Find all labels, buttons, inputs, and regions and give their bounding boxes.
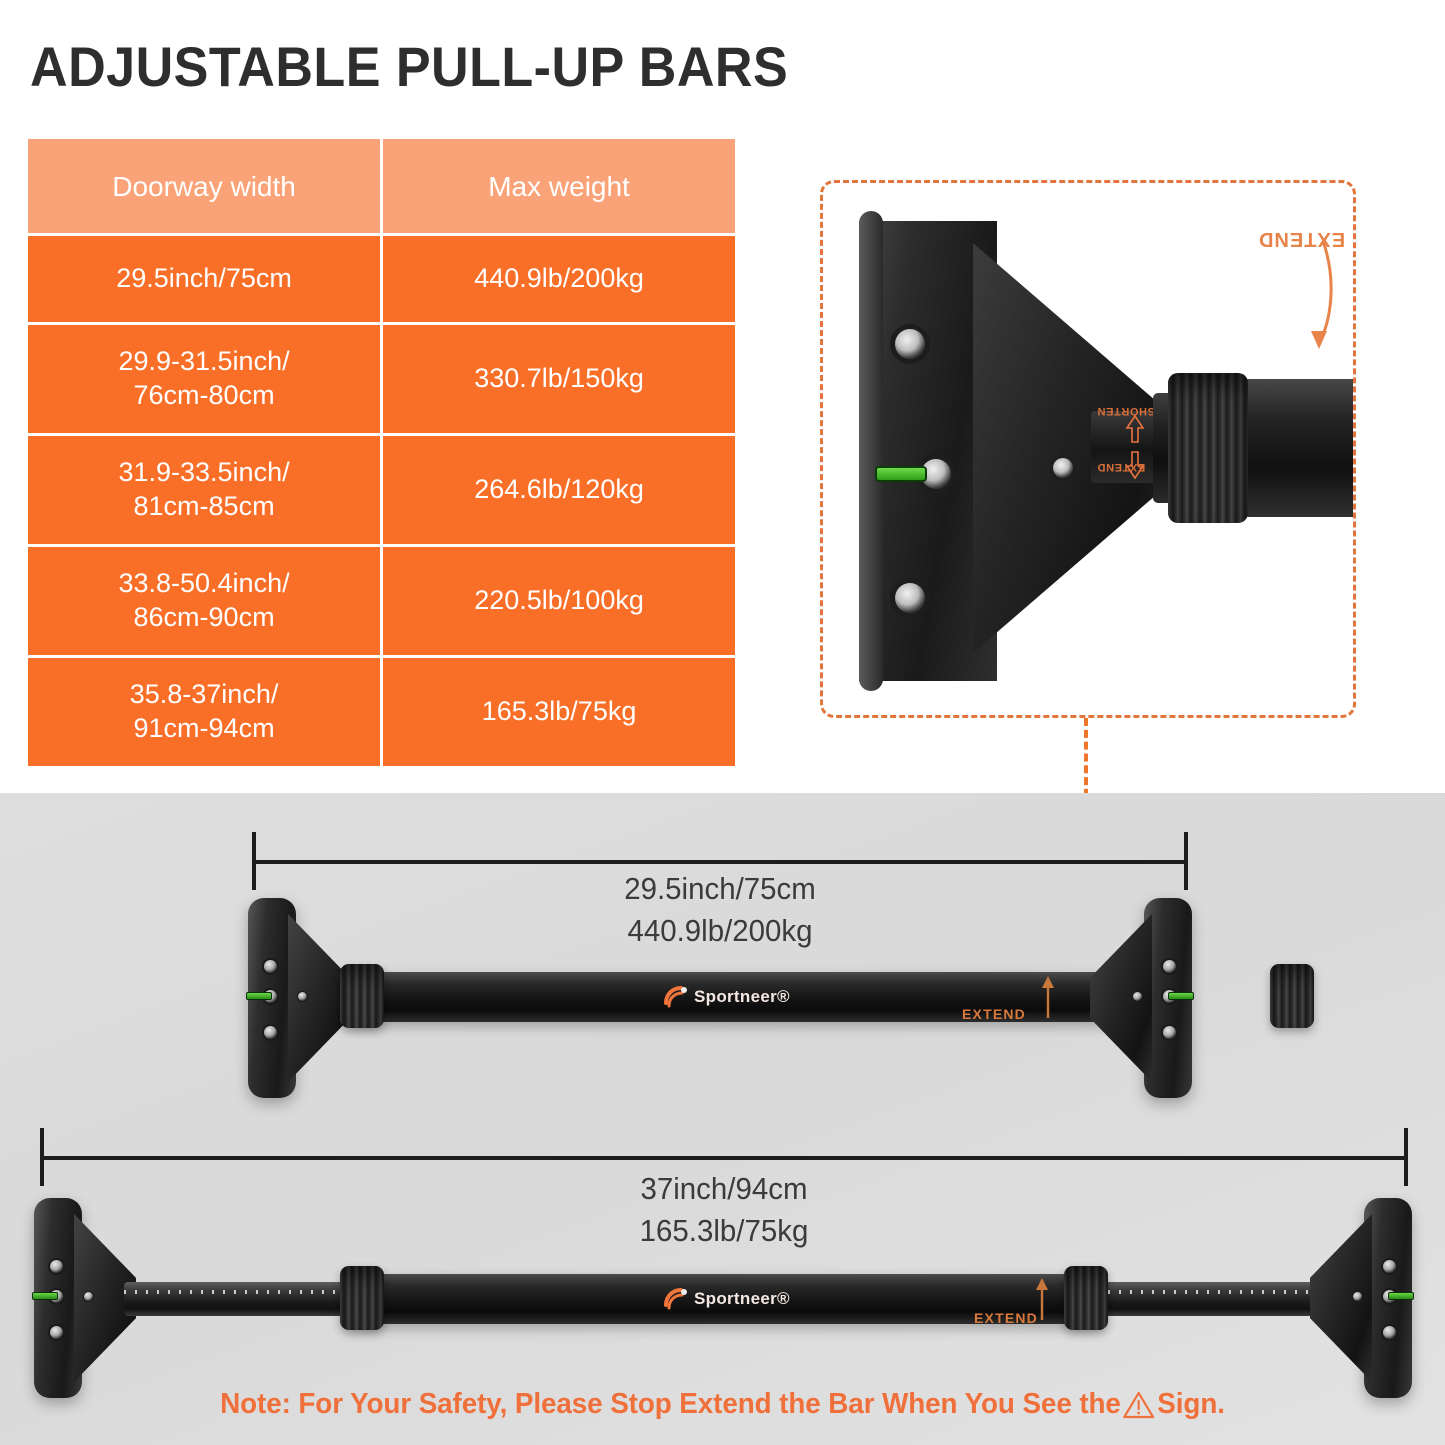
locking-collar-right[interactable] — [1064, 1266, 1108, 1330]
bubble-level-icon — [32, 1292, 58, 1300]
safety-note: Note: For Your Safety, Please Stop Exten… — [29, 1388, 1416, 1421]
brand-logo: Sportneer® — [660, 982, 790, 1012]
cell-max-weight: 330.7lb/150kg — [383, 325, 735, 433]
locking-collar-left[interactable] — [340, 1266, 384, 1330]
screw-hole-icon — [895, 583, 925, 613]
bubble-level-icon — [1168, 992, 1194, 1000]
cell-max-weight: 165.3lb/75kg — [383, 658, 735, 766]
inner-tube-left — [124, 1282, 360, 1316]
bubble-level-icon — [246, 992, 272, 1000]
detail-sleeve — [1241, 379, 1356, 517]
page-title: ADJUSTABLE PULL-UP BARS — [30, 34, 788, 99]
brand-logo: Sportneer® — [660, 1284, 790, 1314]
up-arrow-icon — [1040, 974, 1056, 1020]
screw-hole-icon — [1383, 1260, 1396, 1273]
column-header-max-weight: Max weight — [383, 139, 735, 233]
mount-left — [34, 1198, 130, 1398]
detail-locking-collar[interactable] — [1168, 373, 1248, 523]
table-row: 33.8-50.4inch/ 86cm-90cm 220.5lb/100kg — [28, 547, 735, 655]
bubble-level-icon — [875, 466, 927, 482]
extend-tag-label: EXTEND — [974, 1310, 1038, 1326]
bubble-level-icon — [1388, 1292, 1414, 1300]
mount-right — [1096, 898, 1192, 1098]
cell-max-weight: 440.9lb/200kg — [383, 236, 735, 322]
sportneer-wave-icon — [660, 982, 690, 1012]
screw-hole-icon — [1383, 1326, 1396, 1339]
screw-hole-icon — [298, 992, 307, 1001]
cell-doorway-width: 33.8-50.4inch/ 86cm-90cm — [28, 547, 380, 655]
screw-hole-icon — [1053, 458, 1073, 478]
screw-hole-icon — [264, 1026, 277, 1039]
curved-arrow-icon — [1227, 231, 1347, 361]
extend-tag-label: EXTEND — [962, 1006, 1026, 1022]
brand-name: Sportneer® — [694, 1289, 790, 1309]
detail-shorten-label: SHORTEN — [1097, 405, 1155, 417]
cell-doorway-width: 29.9-31.5inch/ 76cm-80cm — [28, 325, 380, 433]
cell-doorway-width: 35.8-37inch/ 91cm-94cm — [28, 658, 380, 766]
locking-collar-left[interactable] — [340, 964, 384, 1028]
safety-note-text-after: Sign. — [1157, 1388, 1225, 1421]
measurement-scale — [1086, 1290, 1322, 1294]
detail-callout-box: SHORTEN EXTEND EXTEND — [820, 180, 1356, 718]
spec-table: Doorway width Max weight 29.5inch/75cm 4… — [25, 136, 738, 769]
table-row: 29.5inch/75cm 440.9lb/200kg — [28, 236, 735, 322]
screw-hole-icon — [264, 960, 277, 973]
locking-collar-right[interactable] — [1270, 964, 1314, 1028]
product-image-bar-extended: Sportneer® EXTEND — [28, 1198, 1418, 1398]
screw-hole-icon — [50, 1326, 63, 1339]
safety-note-text-before: Note: For Your Safety, Please Stop Exten… — [220, 1388, 1121, 1421]
warning-triangle-icon — [1123, 1390, 1156, 1420]
mount-cone — [1310, 1214, 1372, 1382]
mount-cone — [1090, 914, 1152, 1082]
mount-left — [248, 898, 344, 1098]
measurement-scale — [124, 1290, 360, 1294]
table-row: 35.8-37inch/ 91cm-94cm 165.3lb/75kg — [28, 658, 735, 766]
screw-hole-icon — [1163, 1026, 1176, 1039]
screw-hole-icon — [84, 1292, 93, 1301]
plate-edge — [859, 211, 883, 691]
brand-name: Sportneer® — [694, 987, 790, 1007]
screw-hole-icon — [1133, 992, 1142, 1001]
inner-tube-right — [1086, 1282, 1322, 1316]
detail-extend-label: EXTEND — [1097, 461, 1145, 473]
cell-max-weight: 220.5lb/100kg — [383, 547, 735, 655]
up-arrow-icon — [1034, 1276, 1050, 1322]
mount-right — [1316, 1198, 1412, 1398]
screw-hole-icon — [1353, 1292, 1362, 1301]
table-row: 29.9-31.5inch/ 76cm-80cm 330.7lb/150kg — [28, 325, 735, 433]
table-row: 31.9-33.5inch/ 81cm-85cm 264.6lb/120kg — [28, 436, 735, 544]
cell-max-weight: 264.6lb/120kg — [383, 436, 735, 544]
table-header-row: Doorway width Max weight — [28, 139, 735, 233]
screw-hole-icon — [895, 329, 925, 359]
sportneer-wave-icon — [660, 1284, 690, 1314]
screw-hole-icon — [1163, 960, 1176, 973]
screw-hole-icon — [50, 1260, 63, 1273]
column-header-doorway-width: Doorway width — [28, 139, 380, 233]
cell-doorway-width: 31.9-33.5inch/ 81cm-85cm — [28, 436, 380, 544]
product-image-bar-retracted: Sportneer® EXTEND — [240, 898, 1200, 1108]
cell-doorway-width: 29.5inch/75cm — [28, 236, 380, 322]
